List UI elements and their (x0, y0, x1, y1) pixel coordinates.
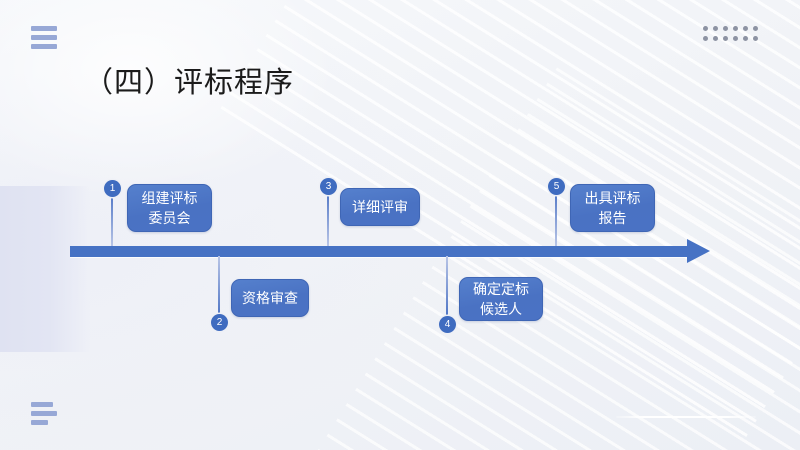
step-number-badge: 1 (104, 180, 121, 197)
arrow-shaft (70, 246, 691, 257)
footer-divider (616, 416, 756, 418)
hamburger-bar (31, 402, 53, 407)
hamburger-bar (31, 420, 48, 425)
grid-dot (743, 26, 748, 31)
grid-dot (713, 26, 718, 31)
step-connector-line (218, 256, 220, 318)
grid-dot (753, 36, 758, 41)
step-connector-line (111, 190, 113, 246)
grid-dot (753, 26, 758, 31)
grid-dot (743, 36, 748, 41)
dot-grid-icon (703, 26, 763, 46)
step-connector-line (446, 256, 448, 318)
hamburger-bar (31, 35, 57, 40)
grid-dot (733, 36, 738, 41)
step-number-badge: 3 (320, 178, 337, 195)
slide-title: （四）评标程序 (84, 66, 294, 101)
hamburger-bar (31, 44, 57, 49)
hamburger-icon (31, 26, 57, 49)
step-label-box[interactable]: 确定定标 候选人 (459, 277, 543, 321)
step-connector-line (327, 188, 329, 246)
grid-dot (723, 26, 728, 31)
grid-dot (703, 26, 708, 31)
hamburger-icon (31, 402, 57, 425)
step-number-badge: 5 (548, 178, 565, 195)
right-arrow-icon (687, 239, 710, 263)
grid-dot (723, 36, 728, 41)
grid-dot (713, 36, 718, 41)
step-number-badge: 2 (211, 314, 228, 331)
grid-dot (733, 26, 738, 31)
step-label-box[interactable]: 资格审查 (231, 279, 309, 317)
step-label-box[interactable]: 详细评审 (340, 188, 420, 226)
grid-dot (703, 36, 708, 41)
slide-canvas: （四）评标程序 1 组建评标 委员会 2 资格审查 3 详细评审 4 确定定标 … (0, 0, 800, 450)
hamburger-bar (31, 26, 57, 31)
hamburger-bar (31, 411, 57, 416)
timeline-arrow (70, 239, 710, 263)
left-accent-panel (0, 186, 90, 352)
step-number-badge: 4 (439, 316, 456, 333)
step-connector-line (555, 188, 557, 246)
step-label-box[interactable]: 组建评标 委员会 (127, 184, 212, 232)
step-label-box[interactable]: 出具评标 报告 (570, 184, 655, 232)
